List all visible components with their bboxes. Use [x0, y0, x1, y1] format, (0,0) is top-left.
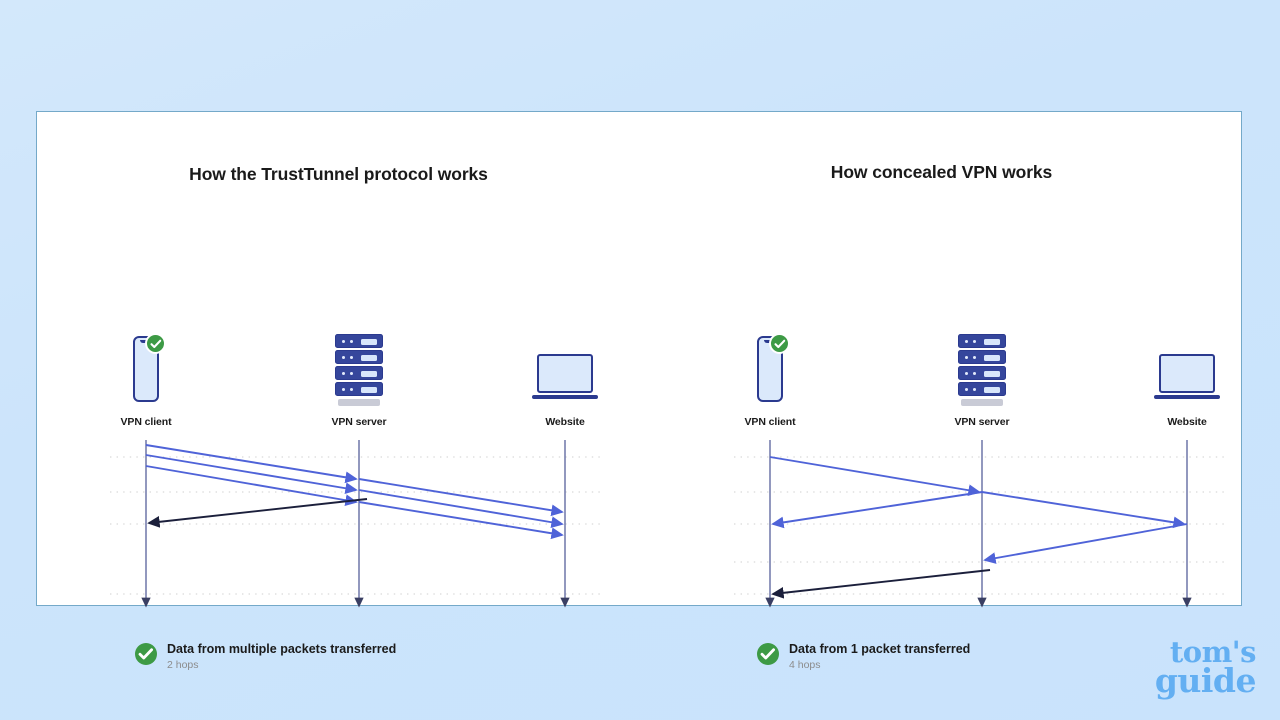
messages: [146, 445, 562, 535]
toms-guide-logo: tom's guide: [1136, 640, 1256, 710]
diagram-card: How the TrustTunnel protocol works VPN c…: [36, 111, 1242, 606]
packet-1-client-to-server: [146, 445, 356, 479]
request-server-to-website: [982, 492, 1184, 524]
response-server-to-client: [773, 492, 982, 524]
gridlines: [110, 457, 602, 594]
check-circle-icon: [757, 643, 779, 665]
response-website-to-server: [985, 524, 1187, 560]
note-subtitle: 4 hops: [789, 659, 821, 671]
request-client-to-server: [770, 457, 979, 492]
messages: [770, 457, 1187, 594]
panel-trusttunnel: How the TrustTunnel protocol works VPN c…: [37, 112, 640, 605]
gridlines: [734, 457, 1225, 594]
panel-concealed-vpn: How concealed VPN works VPN client: [640, 112, 1243, 605]
sequence-diagram-right: [640, 112, 1243, 607]
note-title: Data from multiple packets transferred: [167, 642, 396, 656]
check-circle-icon: [135, 643, 157, 665]
lifelines: [770, 440, 1187, 606]
note-title: Data from 1 packet transferred: [789, 642, 970, 656]
sequence-diagram-left: [37, 112, 640, 607]
logo-line-2: guide: [1136, 666, 1256, 695]
final-server-to-client: [773, 570, 990, 594]
response-server-to-client: [149, 499, 367, 523]
note-subtitle: 2 hops: [167, 659, 199, 671]
